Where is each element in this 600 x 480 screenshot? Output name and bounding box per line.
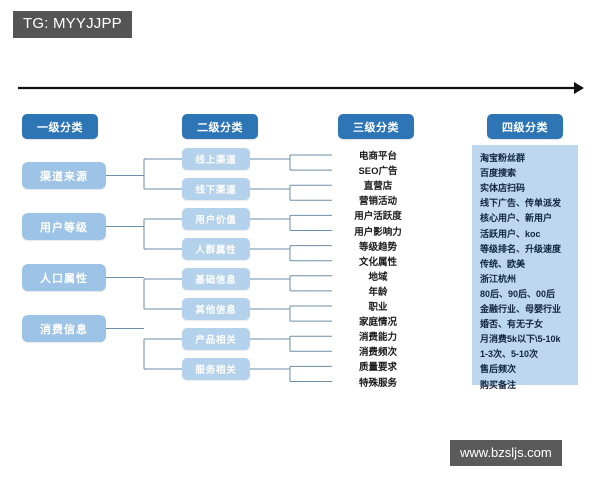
level-4-panel: 淘宝粉丝群百度搜索实体店扫码线下广告、传单派发核心用户、新用户活跃用户、koc等… xyxy=(472,145,578,385)
level-1-box: 人口属性 xyxy=(22,264,106,291)
level-2-box: 用户价值 xyxy=(182,208,250,230)
level-2-box: 服务相关 xyxy=(182,358,250,380)
level-3-item: 家庭情况 xyxy=(338,314,418,328)
level-1-box: 渠道来源 xyxy=(22,162,106,189)
level-3-item: 用户影响力 xyxy=(338,224,418,238)
level-3-item: 消费频次 xyxy=(338,344,418,358)
level-1-box: 消费信息 xyxy=(22,315,106,342)
level-4-item: 实体店扫码 xyxy=(480,182,525,194)
level-3-item: 直营店 xyxy=(338,178,418,192)
level-4-item: 1-3次、5-10次 xyxy=(480,348,538,360)
level-4-item: 等级排名、升级速度 xyxy=(480,243,561,255)
column-header-level-2: 二级分类 xyxy=(182,114,258,139)
level-1-box: 用户等级 xyxy=(22,213,106,240)
level-4-item: 传统、欧美 xyxy=(480,258,525,270)
level-4-item: 淘宝粉丝群 xyxy=(480,152,525,164)
level-4-item: 购买备注 xyxy=(480,379,516,391)
level-2-box: 线下渠道 xyxy=(182,178,250,200)
level-2-box: 基础信息 xyxy=(182,268,250,290)
level-3-item: 用户活跃度 xyxy=(338,208,418,222)
level-3-item: 等级趋势 xyxy=(338,239,418,253)
flow-direction-arrow xyxy=(18,78,584,98)
level-3-item: 文化属性 xyxy=(338,254,418,268)
column-header-level-3: 三级分类 xyxy=(338,114,414,139)
level-4-item: 活跃用户、koc xyxy=(480,228,541,240)
level-4-item: 核心用户、新用户 xyxy=(480,212,552,224)
tg-badge: TG: MYYJJPP xyxy=(13,11,132,38)
level-3-item: 地域 xyxy=(338,269,418,283)
column-header-level-1: 一级分类 xyxy=(22,114,98,139)
level-4-item: 月消费5k以下\5-10k xyxy=(480,333,561,345)
column-header-level-4: 四级分类 xyxy=(487,114,563,139)
level-4-item: 售后频次 xyxy=(480,363,516,375)
level-2-box: 线上渠道 xyxy=(182,148,250,170)
diagram-canvas: TG: MYYJJPP 一级分类 二级分类 三级分类 四级分类 渠道来源用户等级… xyxy=(0,0,600,480)
level-4-item: 百度搜索 xyxy=(480,167,516,179)
level-4-item: 80后、90后、00后 xyxy=(480,288,555,300)
level-3-item: 营销活动 xyxy=(338,193,418,207)
level-2-box: 其他信息 xyxy=(182,298,250,320)
level-4-item: 线下广告、传单派发 xyxy=(480,197,561,209)
level-4-item: 婚否、有无子女 xyxy=(480,318,543,330)
level-3-item: 电商平台 xyxy=(338,148,418,162)
level-3-item: 特殊服务 xyxy=(338,375,418,389)
level-3-item: SEO广告 xyxy=(338,163,418,177)
watermark: www.bzsljs.com xyxy=(450,440,562,466)
level-3-item: 年龄 xyxy=(338,284,418,298)
level-4-item: 浙江杭州 xyxy=(480,273,516,285)
level-3-item: 消费能力 xyxy=(338,329,418,343)
level-3-item: 质量要求 xyxy=(338,359,418,373)
level-4-item: 金融行业、母婴行业 xyxy=(480,303,561,315)
level-2-box: 人群属性 xyxy=(182,238,250,260)
level-3-item: 职业 xyxy=(338,299,418,313)
level-2-box: 产品相关 xyxy=(182,328,250,350)
